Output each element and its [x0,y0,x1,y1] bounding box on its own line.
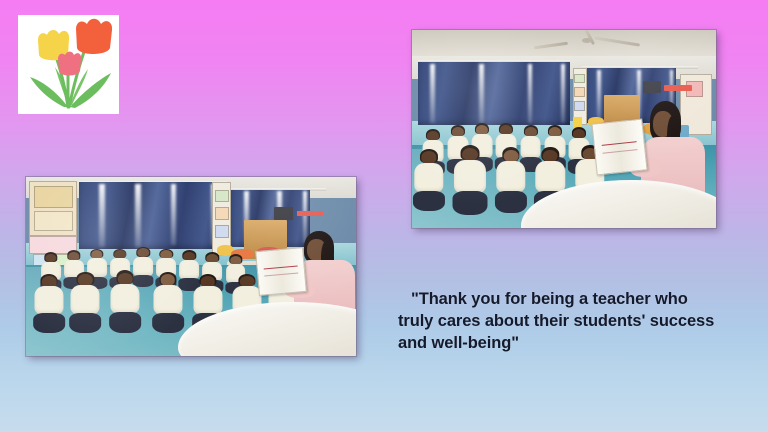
slide-canvas: "Thank you for being a teacher who truly… [0,0,768,432]
tulip-logo-tile [18,15,119,114]
quote-line-2: truly cares about their students' succes… [398,310,728,332]
teacher-appreciation-quote: "Thank you for being a teacher who truly… [398,288,728,354]
quote-line-1: "Thank you for being a teacher who [398,288,728,310]
classroom-photo-bottom-left [26,177,356,356]
quote-line-3: and well-being" [398,332,728,354]
classroom-photo-top-right [412,30,716,228]
tulip-bouquet-icon [18,15,119,114]
